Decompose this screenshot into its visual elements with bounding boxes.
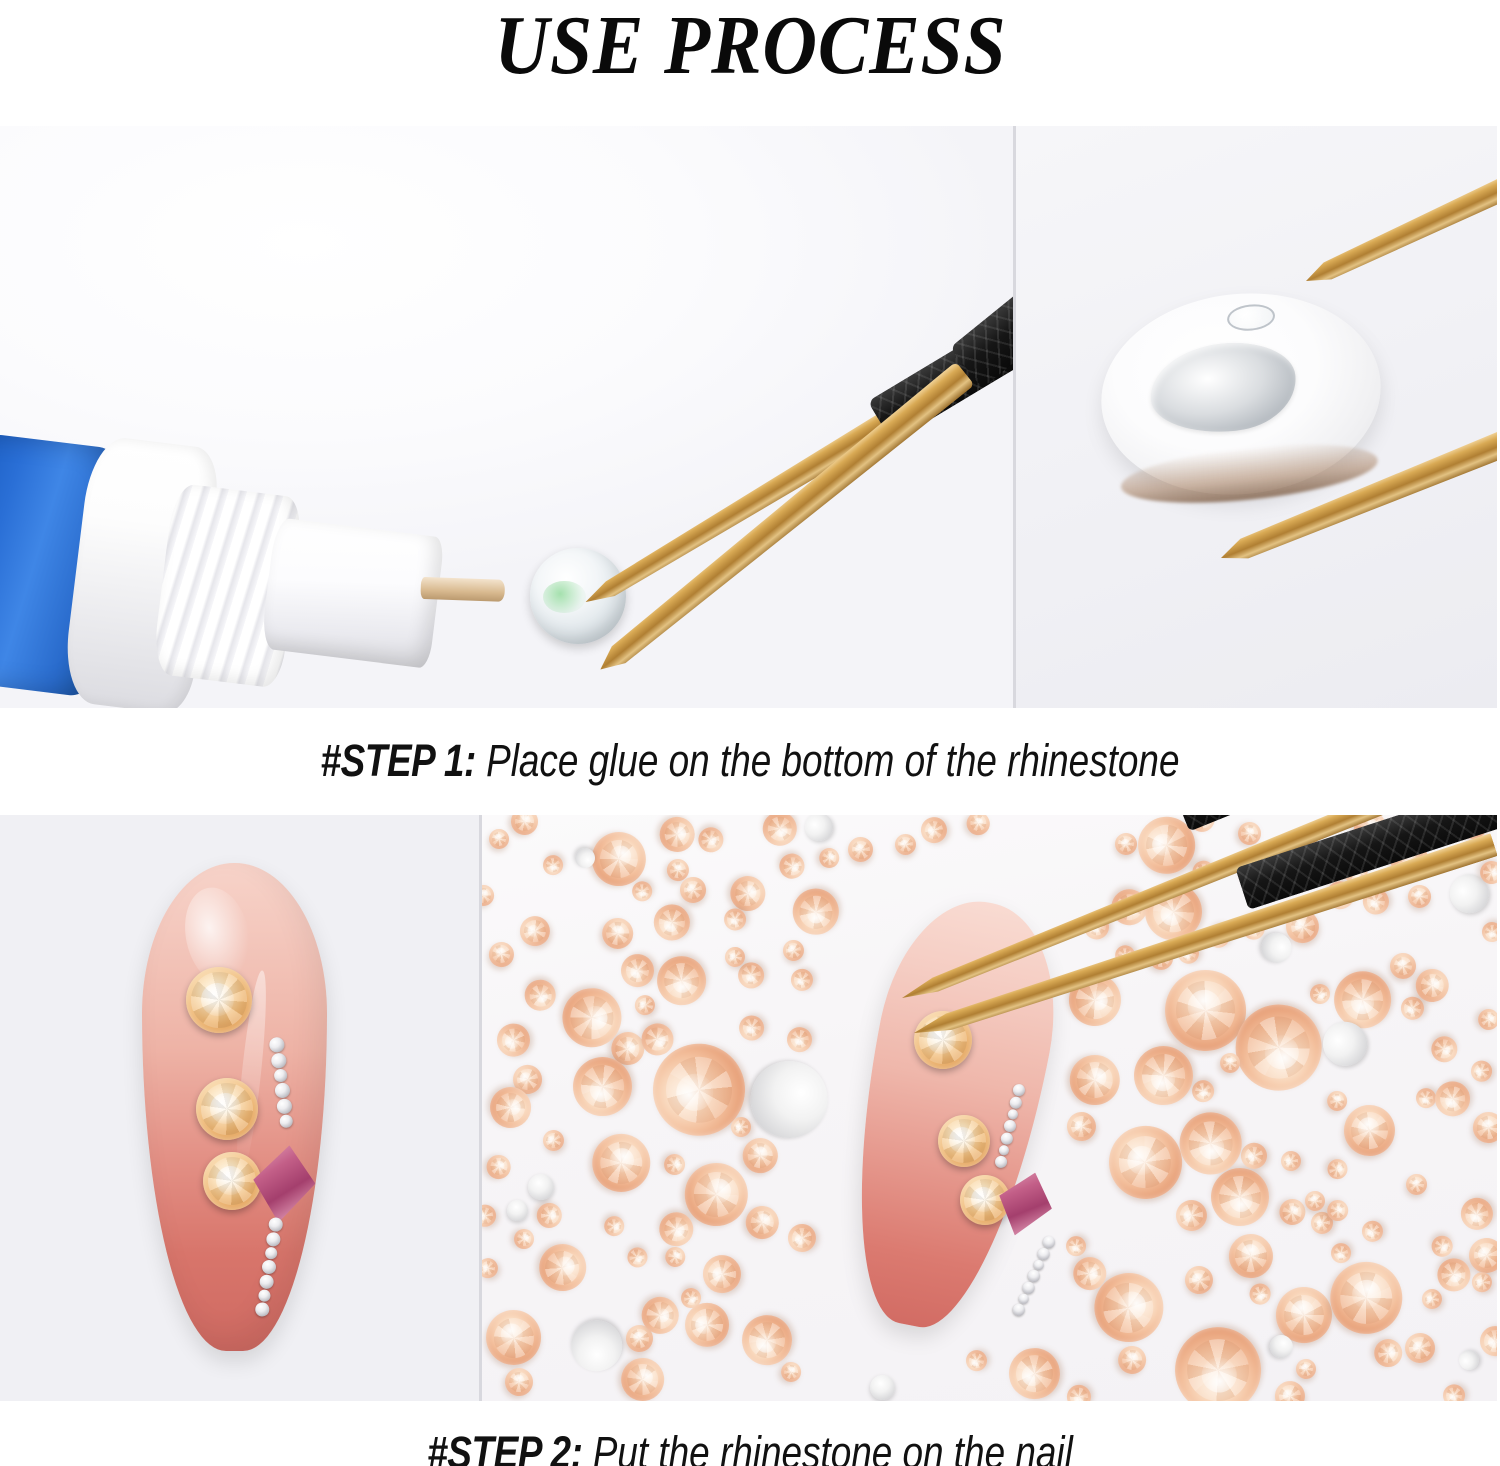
step-1-label: #STEP 1: (321, 735, 476, 786)
silver-bead (1011, 1302, 1027, 1318)
rhinestone (1401, 1329, 1439, 1367)
rhinestone (1327, 1239, 1355, 1267)
page-title-bar: USE PROCESS (0, 0, 1500, 122)
rhinestone (963, 1347, 990, 1374)
silver-bead (998, 1144, 1010, 1156)
rhinestone (1113, 832, 1138, 857)
rhinestone (1184, 1264, 1216, 1296)
rhinestone (1428, 1074, 1477, 1123)
glue-air-bubble (1226, 302, 1276, 333)
step-1-text: Place glue on the bottom of the rhinesto… (476, 735, 1180, 786)
rhinestone (479, 1254, 503, 1283)
decorated-nail-photo (0, 815, 479, 1401)
rhinestone (1171, 1194, 1213, 1236)
silver-bead (274, 1082, 291, 1099)
page-title: USE PROCESS (494, 0, 1006, 88)
rhinestone (678, 876, 707, 905)
rhinestone (539, 1126, 568, 1155)
rhinestone (479, 1201, 499, 1229)
rhinestone (1468, 1107, 1497, 1148)
rhinestone (649, 900, 696, 947)
rhinestone (485, 1153, 513, 1181)
rhinestone (661, 1151, 689, 1179)
silver-bead-chain-lower (1011, 1234, 1057, 1317)
nail-rhinestone-large (186, 967, 252, 1033)
rhinestones-scatter-and-nail-photo (479, 815, 1497, 1401)
rhinestone (1427, 1032, 1461, 1066)
rhinestone (695, 824, 726, 855)
rhinestone (1404, 1171, 1430, 1197)
step-2-photo-row (0, 815, 1500, 1401)
rhinestone (1294, 1358, 1317, 1381)
rhinestone (1159, 1310, 1278, 1401)
rhinestone-flat-back (506, 1199, 529, 1222)
rhinestone (1454, 1192, 1497, 1236)
rhinestone (784, 880, 848, 944)
rhinestone-flat-back (563, 1311, 631, 1379)
rhinestone (1249, 1283, 1272, 1306)
rhinestone (600, 1212, 628, 1240)
silver-bead (279, 1114, 293, 1128)
glue-bottle-nozzle (260, 517, 445, 669)
tweezer-arm-lower (591, 362, 975, 681)
rhinestone-flat-back (1458, 1348, 1481, 1371)
step-2-section: #STEP 2: Put the rhinestone on the nail (0, 815, 1500, 1466)
rhinestone (1277, 1147, 1304, 1174)
rhinestone-flat-back (527, 1173, 555, 1201)
tweezer-grip-lower (950, 126, 1013, 388)
rhinestone (1369, 1334, 1405, 1370)
rhinestone-flat-back (750, 1060, 829, 1139)
rhinestone (1387, 950, 1420, 983)
silver-bead (268, 1217, 284, 1233)
rhinestone (655, 815, 699, 857)
rhinestone (616, 950, 657, 991)
rhinestone-flat-back (1091, 280, 1390, 508)
rhinestone (788, 966, 815, 993)
rhinestone (1437, 1257, 1472, 1292)
rhinestone (963, 815, 994, 839)
glue-bottle-and-tweezers-photo (0, 126, 1013, 708)
rhinestone (782, 1022, 817, 1057)
step-2-label: #STEP 2: (427, 1427, 582, 1466)
rhinestone (847, 836, 873, 862)
step-1-section: #STEP 1: Place glue on the bottom of the… (0, 126, 1500, 798)
rhinestone (776, 850, 809, 883)
rhinestone (1303, 1189, 1326, 1212)
use-process-infographic: USE PROCESS (0, 0, 1500, 1466)
rhinestone (631, 990, 660, 1019)
nail-rhinestone-medium (938, 1115, 990, 1167)
rhinestone (696, 1247, 749, 1300)
rhinestone (1399, 995, 1425, 1021)
rhinestone (1336, 1098, 1402, 1164)
tweezer-arm-upper (1301, 126, 1497, 293)
rhinestone (1062, 1232, 1090, 1260)
step-1-photo-row (0, 126, 1500, 708)
step-1-caption: #STEP 1: Place glue on the bottom of the… (135, 735, 1365, 787)
rhinestone (532, 1199, 566, 1233)
rhinestone (1406, 884, 1433, 911)
rhinestone (581, 1123, 661, 1203)
rhinestone (1315, 1247, 1417, 1349)
silver-bead (265, 1231, 281, 1247)
rhinestone (1062, 1107, 1101, 1146)
glue-blob (1146, 336, 1300, 439)
silver-bead (258, 1289, 272, 1303)
rhinestone (1468, 1059, 1494, 1085)
rhinestone (618, 1355, 667, 1401)
rhinestone (1478, 918, 1497, 946)
rhinestone (1113, 1340, 1153, 1380)
rhinestone (480, 1304, 547, 1371)
rhinestone (895, 834, 916, 855)
rhinestone (1480, 1326, 1497, 1357)
nail-rhinestone-small (203, 1152, 261, 1210)
rhinestone (663, 1245, 688, 1270)
step-2-caption: #STEP 2: Put the rhinestone on the nail (135, 1427, 1365, 1466)
step-2-text: Put the rhinestone on the nail (583, 1427, 1073, 1466)
rhinestone (1468, 1268, 1497, 1297)
rhinestone (1062, 1380, 1096, 1401)
rhinestone-with-glue-closeup-photo (1013, 126, 1497, 708)
silver-bead (276, 1098, 293, 1115)
rhinestone (1271, 1377, 1309, 1401)
silver-bead (270, 1052, 287, 1069)
rhinestone (1418, 1285, 1446, 1313)
rhinestone (1478, 1009, 1497, 1031)
rhinestone (540, 851, 567, 878)
rhinestone (1323, 1087, 1352, 1116)
rhinestone (479, 880, 498, 910)
nail-rhinestone-medium (196, 1078, 258, 1140)
rhinestone (1428, 1233, 1455, 1260)
rhinestone (1309, 983, 1332, 1006)
rhinestone (781, 939, 805, 963)
silver-bead (264, 1246, 278, 1260)
rhinestone (514, 910, 556, 952)
rhinestone (1360, 1220, 1384, 1244)
rhinestone-flat-back (869, 1375, 894, 1400)
rhinestone (1067, 1052, 1124, 1109)
rhinestone (1277, 1197, 1308, 1228)
rhinestone (761, 815, 799, 848)
rhinestone (1440, 1381, 1468, 1401)
silver-bead (269, 1036, 286, 1053)
silver-bead (273, 1068, 287, 1082)
rhinestone (514, 1229, 534, 1249)
silver-bead (261, 1259, 277, 1275)
rhinestone (742, 1202, 783, 1243)
rhinestone (499, 1363, 538, 1401)
rhinestone (1467, 1236, 1497, 1275)
silver-bead (1007, 1108, 1019, 1120)
rhinestone (1007, 1347, 1062, 1401)
rhinestone (1239, 1140, 1270, 1171)
rhinestone (1327, 1200, 1348, 1221)
rhinestone (819, 848, 840, 869)
glue-bottle-metal-tip (420, 577, 505, 602)
rhinestone (486, 826, 511, 851)
rhinestone (1324, 1156, 1350, 1182)
rhinestone-flat-back (800, 815, 839, 846)
rhinestone (506, 815, 543, 840)
rhinestone (626, 1246, 648, 1268)
rhinestone (918, 815, 950, 846)
rhinestone (595, 912, 639, 956)
rhinestone (485, 938, 518, 971)
rhinestone (534, 1238, 592, 1296)
rhinestone (648, 947, 715, 1014)
rhinestone (787, 1223, 817, 1253)
rhinestone (1101, 1117, 1191, 1207)
glue-bottle (0, 415, 503, 708)
silver-bead (254, 1301, 270, 1317)
rhinestone (1221, 1225, 1282, 1286)
rhinestone (777, 1358, 805, 1386)
rhinestone (497, 1023, 531, 1057)
rhinestone (736, 1131, 785, 1180)
rhinestone (735, 1011, 769, 1045)
rhinestone (525, 980, 556, 1011)
silver-bead (259, 1274, 275, 1290)
